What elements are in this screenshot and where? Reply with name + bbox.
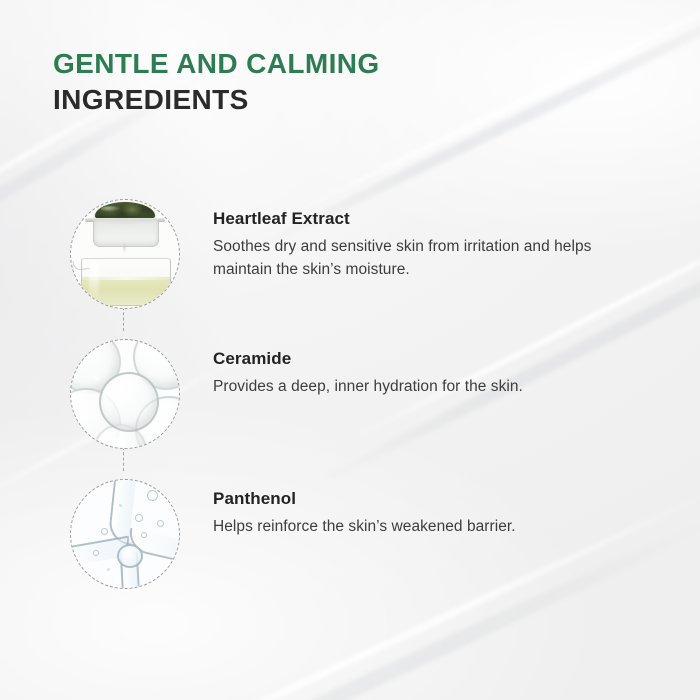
water-bubble (135, 514, 143, 522)
water-bubble (157, 520, 164, 527)
ingredient-name: Heartleaf Extract (213, 209, 633, 229)
ingredient-text-block: Heartleaf Extract Soothes dry and sensit… (213, 209, 633, 282)
ingredient-text-block: Ceramide Provides a deep, inner hydratio… (213, 349, 633, 399)
water-bubble (141, 532, 147, 538)
water-bubble (147, 490, 158, 501)
ingredient-description: Provides a deep, inner hydration for the… (213, 376, 633, 399)
bubble-shape-center (99, 372, 159, 432)
water-speck (129, 542, 132, 545)
panthenol-photo (70, 479, 180, 589)
ingredient-item-ceramide: Ceramide Provides a deep, inner hydratio… (0, 323, 700, 463)
extract-drip (123, 244, 126, 253)
ingredient-text-block: Panthenol Helps reinforce the skin’s wea… (213, 489, 633, 539)
water-speck (119, 504, 122, 507)
water-speck (107, 568, 110, 571)
water-bubble (101, 528, 108, 535)
ingredient-description: Soothes dry and sensitive skin from irri… (213, 236, 633, 282)
water-bubble (93, 550, 99, 556)
page-title-line-2: INGREDIENTS (53, 82, 613, 118)
heartleaf-extract-photo (70, 199, 180, 309)
ingredient-description: Helps reinforce the skin’s weakened barr… (213, 516, 633, 539)
ingredient-name: Ceramide (213, 349, 633, 369)
page-title: GENTLE AND CALMING INGREDIENTS (53, 46, 613, 118)
bubble-sparkle (93, 374, 101, 382)
glass-funnel (93, 220, 159, 247)
ingredients-infographic: GENTLE AND CALMING INGREDIENTS (0, 0, 700, 700)
beaker-highlight (89, 262, 99, 298)
ingredient-item-panthenol: Panthenol Helps reinforce the skin’s wea… (0, 463, 700, 603)
ceramide-photo (70, 339, 180, 449)
ingredient-item-heartleaf-extract: Heartleaf Extract Soothes dry and sensit… (0, 183, 700, 323)
ingredient-name: Panthenol (213, 489, 633, 509)
page-title-line-1: GENTLE AND CALMING (53, 46, 613, 82)
water-junction (117, 544, 143, 568)
